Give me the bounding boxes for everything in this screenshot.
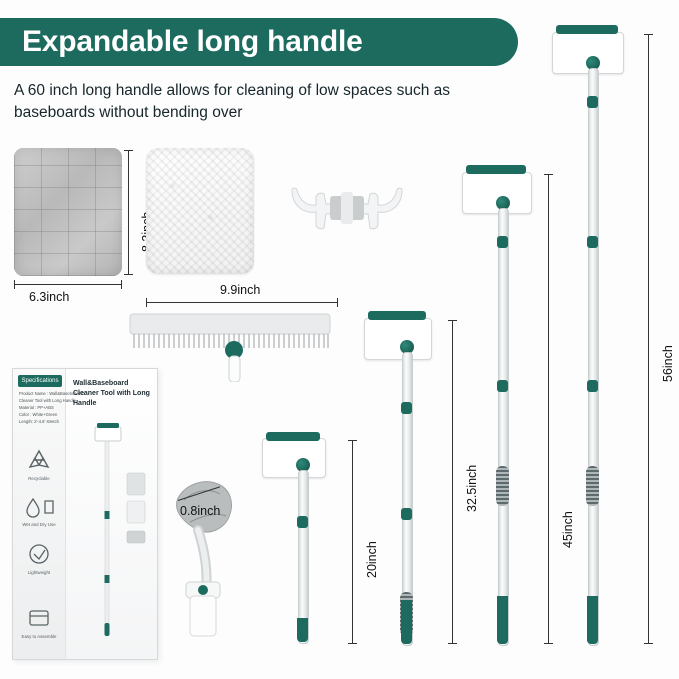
spec-header: Specifications — [18, 375, 62, 387]
dim-label-pole-56: 56inch — [661, 345, 675, 382]
swivel-head-detail — [160, 470, 256, 640]
package-product-title: Wall&Baseboard Cleaner Tool with Long Ha… — [73, 379, 151, 409]
spec-row: Length: 2'-4.6' stretch — [19, 419, 59, 424]
spec-header-label: Specifications — [18, 375, 62, 387]
product-package-box: Specifications Product Name : Wall&Baseb… — [12, 368, 158, 660]
microfiber-pad-grey — [14, 148, 122, 276]
feature-recycle: Recyclable — [17, 447, 61, 481]
dim-label-pole-45: 45inch — [561, 511, 575, 548]
pole-joint-collar — [587, 96, 598, 108]
dim-label-brush-thickness: 0.8inch — [180, 504, 220, 518]
pole-tube — [588, 68, 599, 646]
pole-joint-collar — [587, 236, 598, 248]
page-title: Expandable long handle — [22, 26, 363, 58]
pole-joint-collar — [587, 380, 598, 392]
dim-tick — [644, 34, 653, 35]
dim-line-pad-width — [14, 284, 122, 285]
pole-head-plate — [262, 438, 326, 478]
dim-tick — [121, 280, 122, 289]
spec-row: Color : White+Green — [19, 412, 57, 417]
pole-joint-collar — [297, 516, 308, 528]
pole-joint-collar — [401, 402, 412, 414]
pole-head-plate — [364, 318, 432, 360]
lightweight-icon — [17, 541, 61, 567]
dim-label-pole-20: 20inch — [365, 541, 379, 578]
dim-line-pad-height — [128, 150, 129, 274]
pole-joint-collar — [497, 236, 508, 248]
dim-tick — [448, 320, 457, 321]
dim-tick — [544, 643, 553, 644]
feature-easy-assemble: Easy to Assemble — [17, 605, 61, 639]
dim-tick — [544, 174, 553, 175]
pole-joint-collar — [401, 508, 412, 520]
feature-caption: Recyclable — [17, 476, 61, 481]
pole-grip — [496, 466, 509, 506]
recycle-icon — [17, 447, 61, 473]
pole-head-green-strip — [466, 165, 526, 174]
feature-lightweight: Lightweight — [17, 541, 61, 575]
dim-line-brush-width — [146, 302, 338, 303]
package-product-photo — [71, 415, 153, 653]
dim-line-pole-45 — [548, 174, 549, 644]
pole-head-green-strip — [266, 432, 320, 441]
dim-tick — [14, 280, 15, 289]
dim-tick — [337, 298, 338, 307]
spec-row: Cleaner Tool with Long Handle — [19, 398, 76, 403]
dim-tick — [348, 440, 357, 441]
pole-joint-collar — [497, 380, 508, 392]
feature-wet-dry: Wet and Dry Use — [17, 493, 61, 527]
dim-tick — [124, 274, 133, 275]
dim-line-pole-32 — [452, 320, 453, 644]
pole-end-cap — [497, 596, 508, 644]
wall-hook — [286, 184, 408, 232]
dim-label-pad-width: 6.3inch — [29, 290, 69, 304]
scrub-brush — [128, 308, 340, 382]
dim-label-brush-width: 9.9inch — [220, 283, 260, 297]
scrub-pad-white — [146, 148, 254, 274]
pole-end-cap — [401, 600, 412, 644]
easy-assemble-icon — [17, 605, 61, 631]
pole-tube — [498, 208, 509, 646]
wet-dry-icon — [17, 493, 61, 519]
page-subtitle: A 60 inch long handle allows for cleanin… — [14, 80, 484, 124]
dim-tick — [348, 643, 357, 644]
dim-tick — [448, 643, 457, 644]
feature-caption: Lightweight — [17, 570, 61, 575]
dim-tick — [644, 643, 653, 644]
pole-end-cap — [297, 618, 308, 642]
dim-tick — [124, 150, 133, 151]
dim-tick — [146, 298, 147, 307]
feature-caption: Easy to Assemble — [17, 634, 61, 639]
dim-line-pole-56 — [648, 34, 649, 644]
dim-line-pole-20 — [352, 440, 353, 644]
feature-caption: Wet and Dry Use — [17, 522, 61, 527]
pole-head-green-strip — [556, 25, 618, 34]
pole-head-green-strip — [368, 311, 426, 320]
pole-grip — [586, 466, 599, 506]
pole-end-cap — [587, 596, 598, 644]
product-infographic: Expandable long handle A 60 inch long ha… — [0, 0, 679, 679]
dim-label-pole-32: 32.5inch — [465, 465, 479, 512]
spec-row: Material : PP+ABS — [19, 405, 54, 410]
